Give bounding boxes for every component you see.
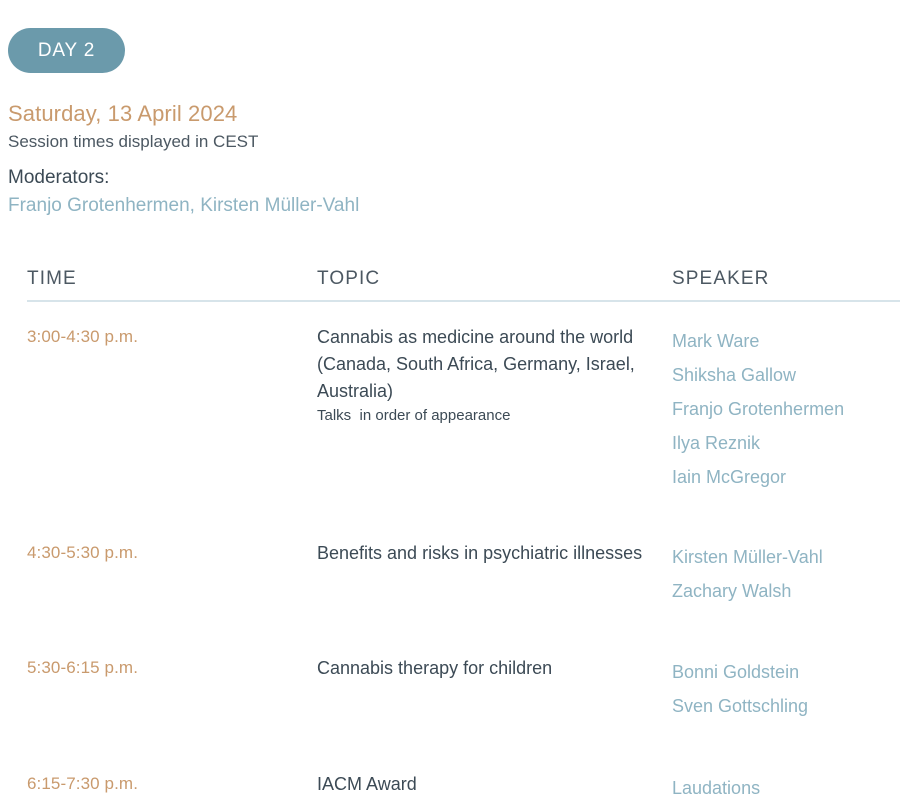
schedule-date: Saturday, 13 April 2024 [8,100,888,128]
speaker-name: Iain McGregor [672,460,900,494]
session-topic: IACM Award [317,771,672,798]
speaker-name: Laudations [672,771,900,805]
table-row: 6:15-7:30 p.m. IACM Award Laudations [27,723,900,805]
session-time: 5:30-6:15 p.m. [27,655,317,680]
table-row: 3:00-4:30 p.m. Cannabis as medicine arou… [27,302,900,494]
schedule-table: TIME TOPIC SPEAKER 3:00-4:30 p.m. Cannab… [0,268,910,805]
session-topic: Cannabis therapy for children [317,655,672,682]
schedule-header: Saturday, 13 April 2024 Session times di… [8,100,888,220]
session-topic-cell: Cannabis therapy for children [317,655,672,682]
session-speakers: Mark Ware Shiksha Gallow Franjo Grotenhe… [672,324,900,494]
session-topic-note: Talks in order of appearance [317,405,672,427]
day-badge: DAY 2 [8,28,125,73]
speaker-name: Ilya Reznik [672,426,900,460]
column-header-speaker: SPEAKER [672,268,890,290]
session-time: 3:00-4:30 p.m. [27,324,317,349]
moderators-names: Franjo Grotenhermen, Kirsten Müller-Vahl [8,192,888,220]
speaker-name: Bonni Goldstein [672,655,900,689]
session-time: 4:30-5:30 p.m. [27,540,317,565]
speaker-name: Shiksha Gallow [672,358,900,392]
schedule-page: DAY 2 Saturday, 13 April 2024 Session ti… [0,0,910,803]
table-row: 4:30-5:30 p.m. Benefits and risks in psy… [27,494,900,608]
moderators-label: Moderators: [8,164,888,192]
session-topic-cell: IACM Award [317,771,672,798]
session-speakers: Bonni Goldstein Sven Gottschling [672,655,900,723]
speaker-name: Zachary Walsh [672,574,900,608]
column-header-time: TIME [27,268,317,290]
session-speakers: Kirsten Müller-Vahl Zachary Walsh [672,540,900,608]
column-header-topic: TOPIC [317,268,672,290]
session-topic-cell: Cannabis as medicine around the world (C… [317,324,672,427]
speaker-name: Sven Gottschling [672,689,900,723]
day-badge-label: DAY 2 [38,40,95,62]
session-topic: Benefits and risks in psychiatric illnes… [317,540,672,567]
speaker-name: Franjo Grotenhermen [672,392,900,426]
session-time: 6:15-7:30 p.m. [27,771,317,796]
table-row: 5:30-6:15 p.m. Cannabis therapy for chil… [27,608,900,723]
session-topic: Cannabis as medicine around the world (C… [317,324,672,405]
speaker-name: Mark Ware [672,324,900,358]
table-header-row: TIME TOPIC SPEAKER [27,268,900,302]
timezone-note: Session times displayed in CEST [8,129,888,155]
session-speakers: Laudations [672,771,900,805]
speaker-name: Kirsten Müller-Vahl [672,540,900,574]
session-topic-cell: Benefits and risks in psychiatric illnes… [317,540,672,567]
